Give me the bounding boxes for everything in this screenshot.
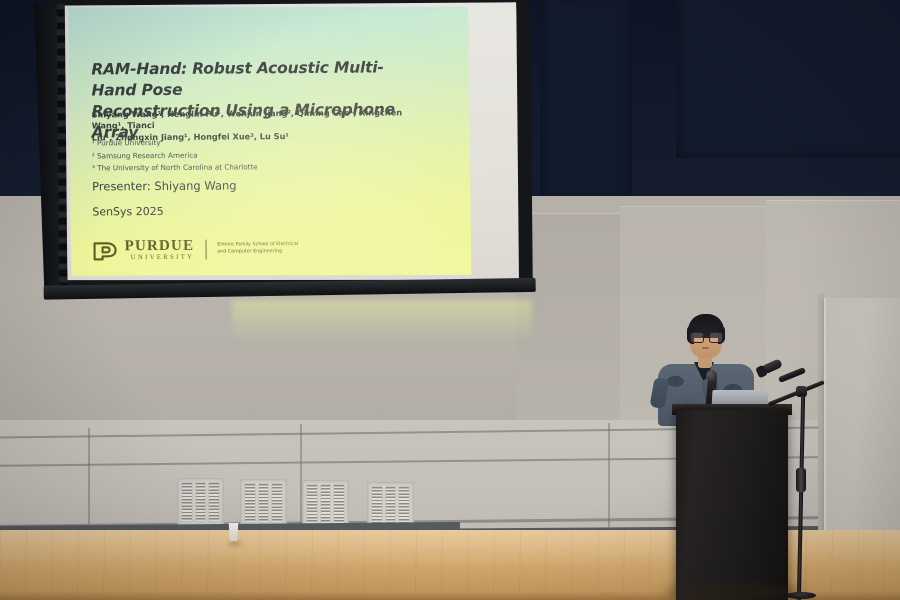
purdue-university-text: UNIVERSITY <box>125 254 195 261</box>
projector-light-spill <box>232 300 532 342</box>
mic-stand-base <box>786 592 816 599</box>
upper-wall-panel <box>676 0 900 158</box>
podium <box>676 410 788 600</box>
presenter-mouth <box>702 347 709 349</box>
wall-panel-divider <box>608 423 610 527</box>
glasses-icon <box>690 332 722 341</box>
purdue-logo: PURDUE UNIVERSITY Elmore Family School o… <box>92 236 298 263</box>
stage-door[interactable] <box>822 298 900 548</box>
logo-divider <box>205 240 206 260</box>
mic-stand-clutch <box>796 468 806 492</box>
upper-wall-panel <box>540 0 632 208</box>
hvac-vent <box>302 480 349 528</box>
vent-louvers <box>371 486 410 526</box>
vent-louvers <box>306 484 345 524</box>
slide-title-line-1: RAM-Hand: Robust Acoustic Multi-Hand Pos… <box>91 57 421 101</box>
wall-panel-divider <box>88 428 90 524</box>
slide-authors-line-1: Shiyang Wang¹, Henglin Pu¹, Wenjun Jiang… <box>92 107 416 132</box>
projected-slide: RAM-Hand: Robust Acoustic Multi-Hand Pos… <box>64 0 475 285</box>
hvac-vent <box>177 478 224 526</box>
microphone-head-icon <box>706 370 717 381</box>
slide-presenter-label: Presenter: Shiyang Wang <box>92 178 237 193</box>
affiliation-3: ³ The University of North Carolina at Ch… <box>92 160 412 175</box>
purdue-wordmark-text: PURDUE <box>124 238 194 253</box>
purdue-p-mark-icon <box>92 237 118 263</box>
podium-shadow <box>664 585 804 599</box>
slide-affiliations: ¹ Purdue University ² Samsung Research A… <box>92 135 412 175</box>
vent-louvers <box>181 482 220 522</box>
slide-venue-label: SenSys 2025 <box>92 205 164 218</box>
presentation-photo-scene: RAM-Hand: Robust Acoustic Multi-Hand Pos… <box>0 0 900 600</box>
vent-louvers <box>244 483 283 523</box>
cup-shadow <box>228 541 242 546</box>
purdue-school-name: Elmore Family School of Electrical and C… <box>217 242 298 256</box>
hvac-vent <box>240 479 287 527</box>
school-line-2: and Computer Engineering <box>217 249 298 256</box>
purdue-wordmark: PURDUE UNIVERSITY <box>124 238 194 261</box>
projection-screen: RAM-Hand: Robust Acoustic Multi-Hand Pos… <box>24 0 532 308</box>
